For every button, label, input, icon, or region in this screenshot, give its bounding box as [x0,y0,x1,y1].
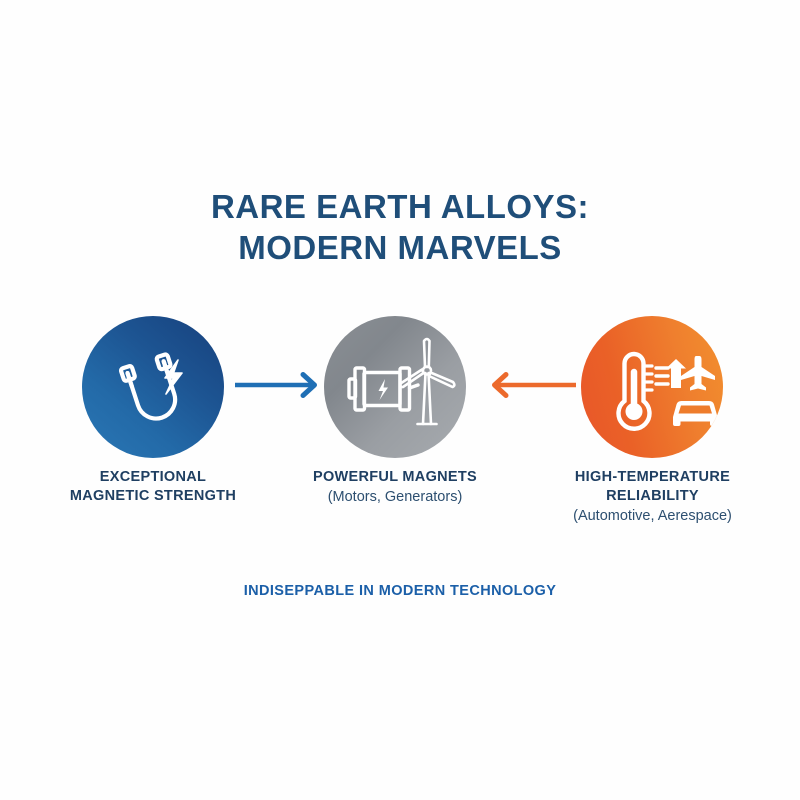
arrow-right-icon [233,368,325,402]
airplane-icon [681,356,715,391]
caption-line-1: POWERFUL MAGNETS [290,468,500,487]
electric-motor-wind-turbine-icon [324,316,466,458]
thermometer-plane-car-icon [581,316,723,458]
circle-blue [82,316,224,458]
caption-exceptional-magnetic-strength: EXCEPTIONAL MAGNETIC STRENGTH [33,468,273,506]
caption-line-1: HIGH-TEMPERATURE [520,468,785,487]
title-line-2: MODERN MARVELS [0,227,800,268]
caption-subtitle: (Automotive, Aerespace) [520,506,785,526]
arrow-right-to-center [478,368,578,402]
footer-tagline: INDISEPPABLE IN MODERN TECHNOLOGY [0,583,800,599]
circle-gray [324,316,466,458]
infographic-canvas: RARE EARTH ALLOYS: MODERN MARVELS [0,0,800,800]
caption-line-2: RELIABILITY [520,487,785,506]
page-title: RARE EARTH ALLOYS: MODERN MARVELS [0,186,800,268]
node-exceptional-magnetic-strength [82,316,224,458]
arrow-left-to-center [233,368,325,402]
caption-high-temperature-reliability: HIGH-TEMPERATURE RELIABILITY (Automotive… [520,468,785,526]
arrow-left-icon [478,368,578,402]
heat-wave-icon [656,368,668,384]
car-icon [673,401,718,426]
horseshoe-magnet-lightning-icon [82,316,224,458]
node-high-temperature-reliability [581,316,723,458]
motor-lightning-icon [379,379,389,400]
caption-subtitle: (Motors, Generators) [290,487,500,507]
node-powerful-magnets [324,316,466,458]
thermometer-icon [619,354,653,429]
title-line-1: RARE EARTH ALLOYS: [0,186,800,227]
caption-line-1: EXCEPTIONAL [33,468,273,487]
caption-line-2: MAGNETIC STRENGTH [33,487,273,506]
caption-powerful-magnets: POWERFUL MAGNETS (Motors, Generators) [290,468,500,507]
circle-orange [581,316,723,458]
node-row [0,316,800,461]
